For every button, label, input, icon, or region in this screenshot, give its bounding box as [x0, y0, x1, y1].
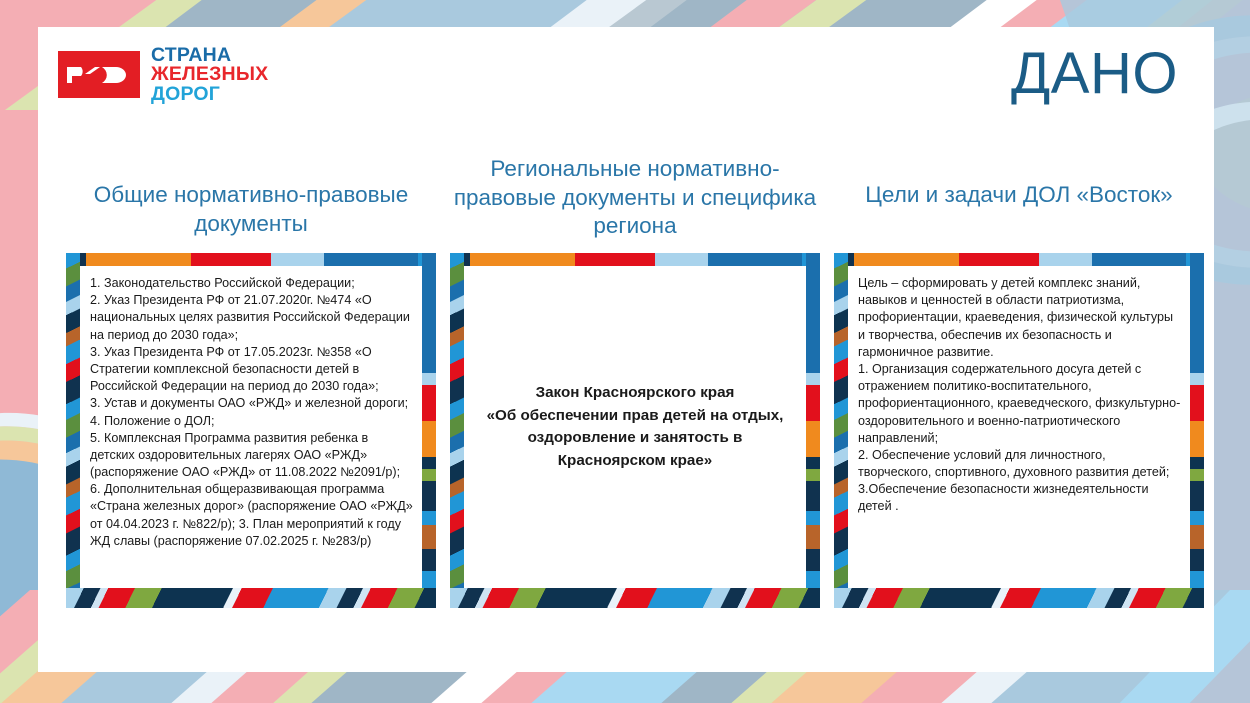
- frame-left-rail: [66, 253, 80, 608]
- frame-top-rail: [450, 253, 820, 266]
- frame-right-rail: [1190, 253, 1204, 608]
- column-1-heading: Общие нормативно-правовые документы: [66, 155, 436, 247]
- frame-top-rail: [66, 253, 436, 266]
- column-3-frame: Цель – сформировать у детей комплекс зна…: [834, 253, 1204, 608]
- frame-top-rail: [834, 253, 1204, 266]
- frame-right-rail: [422, 253, 436, 608]
- column-goals-and-tasks: Цели и задачи ДОЛ «Восток» Цель – сформи…: [834, 155, 1204, 608]
- column-3-content: Цель – сформировать у детей комплекс зна…: [848, 266, 1190, 588]
- frame-bottom-rail: [450, 588, 820, 608]
- column-2-frame: Закон Красноярского края «Об обеспечении…: [450, 253, 820, 608]
- column-1-frame: 1. Законодательство Российской Федерации…: [66, 253, 436, 608]
- column-regional-documents: Региональные нормативно-правовые докумен…: [450, 155, 820, 608]
- column-3-heading: Цели и задачи ДОЛ «Восток»: [834, 155, 1204, 247]
- column-2-heading: Региональные нормативно-правовые докумен…: [450, 155, 820, 247]
- column-1-content: 1. Законодательство Российской Федерации…: [80, 266, 422, 588]
- slide-card: СТРАНА ЖЕЛЕЗНЫХ ДОРОГ ДАНО Общие нормати…: [38, 27, 1214, 672]
- frame-bottom-rail: [66, 588, 436, 608]
- column-2-content: Закон Красноярского края «Об обеспечении…: [464, 266, 806, 588]
- column-3-body: Цель – сформировать у детей комплекс зна…: [848, 266, 1190, 522]
- page-title: ДАНО: [1011, 45, 1178, 103]
- brand-wordmark: СТРАНА ЖЕЛЕЗНЫХ ДОРОГ: [151, 46, 268, 104]
- frame-right-rail: [806, 253, 820, 608]
- column-general-documents: Общие нормативно-правовые документы 1. З…: [66, 155, 436, 608]
- frame-left-rail: [834, 253, 848, 608]
- column-1-body: 1. Законодательство Российской Федерации…: [80, 266, 422, 556]
- column-2-body: Закон Красноярского края «Об обеспечении…: [464, 266, 806, 588]
- frame-left-rail: [450, 253, 464, 608]
- rzd-logo-icon: [58, 51, 140, 98]
- brand-line-2: ЖЕЛЕЗНЫХ: [151, 65, 268, 84]
- brand-line-3: ДОРОГ: [151, 85, 268, 104]
- brand-logo: СТРАНА ЖЕЛЕЗНЫХ ДОРОГ: [58, 46, 268, 104]
- frame-bottom-rail: [834, 588, 1204, 608]
